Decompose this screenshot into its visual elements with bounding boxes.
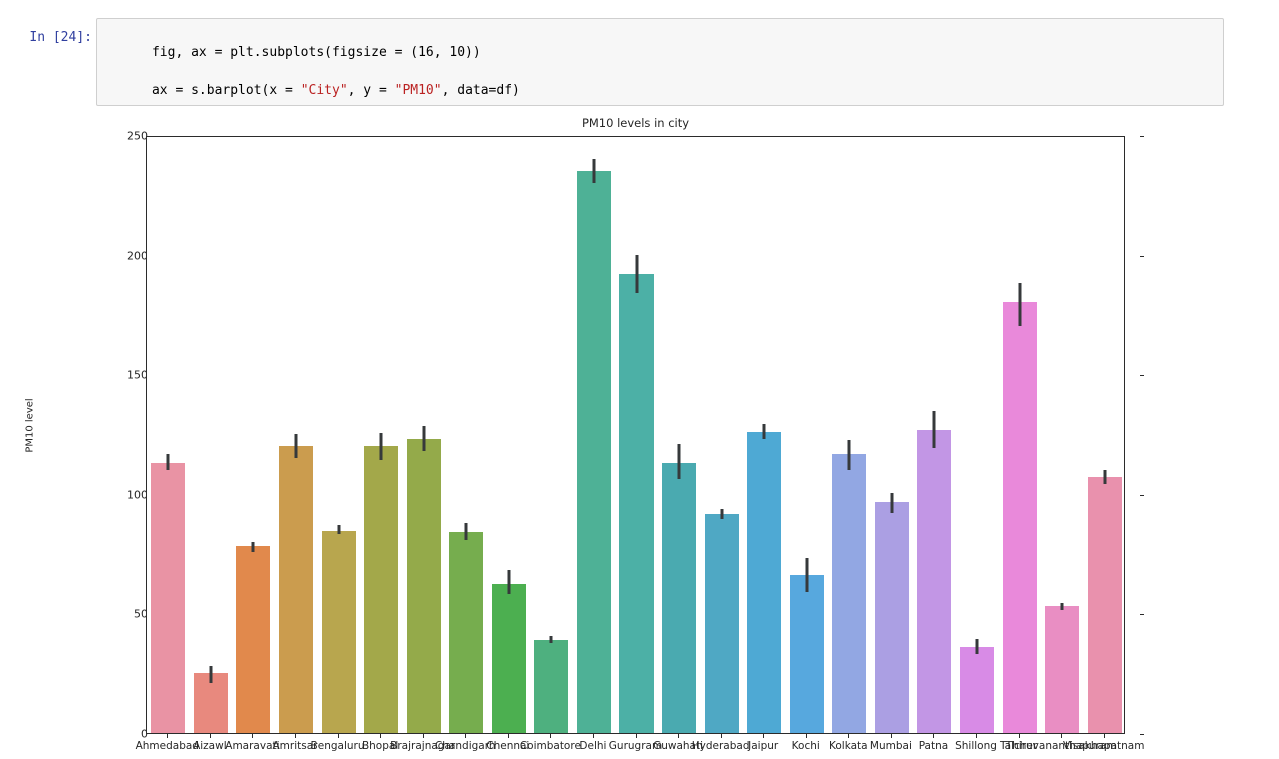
x-tick-mark-bengaluru xyxy=(338,734,339,738)
x-tick-mark-talcher xyxy=(1019,734,1020,738)
bar-delhi xyxy=(577,171,611,733)
error-bar-gurugram xyxy=(635,255,638,293)
y-tick-mark-150 xyxy=(1140,375,1144,376)
bar-bhopal xyxy=(364,446,398,733)
error-bar-ahmedabad xyxy=(167,454,170,470)
x-tick-mark-guwahati xyxy=(678,734,679,738)
error-bar-amaravati xyxy=(252,542,255,553)
bar-mumbai xyxy=(875,502,909,733)
bar-amritsar xyxy=(279,446,313,733)
y-tick-mark-0 xyxy=(1140,734,1144,735)
bar-kochi xyxy=(790,575,824,733)
code-line-2: ax = s.barplot(x = "City", y = "PM10", d… xyxy=(152,83,520,98)
x-tick-mark-coimbatore xyxy=(550,734,551,738)
x-tick-mark-gurugram xyxy=(636,734,637,738)
error-bar-bengaluru xyxy=(337,525,340,535)
x-tick-mark-delhi xyxy=(593,734,594,738)
chart-title: PM10 levels in city xyxy=(146,116,1125,130)
error-bar-patna xyxy=(933,411,936,448)
error-bar-coimbatore xyxy=(550,636,553,643)
bar-visakhapatnam xyxy=(1088,477,1122,733)
y-tick-mark-200 xyxy=(1140,256,1144,257)
bar-chandigarh xyxy=(449,532,483,733)
error-bar-mumbai xyxy=(890,493,893,513)
error-bar-hyderabad xyxy=(720,509,723,519)
error-bar-visakhapatnam xyxy=(1103,470,1106,484)
x-tick-mark-aizawl xyxy=(210,734,211,738)
bar-jaipur xyxy=(747,432,781,733)
error-bar-amritsar xyxy=(294,434,297,458)
error-bar-shillong xyxy=(976,639,979,655)
plot-area xyxy=(146,136,1125,734)
x-tick-mark-chennai xyxy=(508,734,509,738)
x-tick-mark-visakhapatnam xyxy=(1104,734,1105,738)
code-input-area[interactable]: fig, ax = plt.subplots(figsize = (16, 10… xyxy=(96,18,1224,106)
error-bar-bhopal xyxy=(380,433,383,461)
error-bar-guwahati xyxy=(678,444,681,480)
y-tick-label-100: 100 xyxy=(68,488,148,501)
y-tick-mark-250 xyxy=(1140,136,1144,137)
error-bar-aizawl xyxy=(209,666,212,683)
error-bar-kolkata xyxy=(848,440,851,470)
error-bar-chennai xyxy=(507,570,510,594)
bar-guwahati xyxy=(662,463,696,733)
y-tick-label-200: 200 xyxy=(68,249,148,262)
x-tick-mark-brajrajnagar xyxy=(423,734,424,738)
x-tick-mark-chandigarh xyxy=(465,734,466,738)
cell-prompt-label: In [24]: xyxy=(18,30,92,45)
bar-talcher xyxy=(1003,302,1037,733)
bar-chennai xyxy=(492,584,526,734)
error-bar-kochi xyxy=(805,558,808,591)
bar-patna xyxy=(917,430,951,733)
y-tick-label-50: 50 xyxy=(68,608,148,621)
x-tick-mark-bhopal xyxy=(380,734,381,738)
x-tick-mark-ahmedabad xyxy=(167,734,168,738)
chart-output-figure: PM10 levels in city PM10 level City 0501… xyxy=(0,110,1279,759)
bar-ahmedabad xyxy=(151,463,185,733)
y-tick-label-0: 0 xyxy=(68,728,148,741)
error-bar-jaipur xyxy=(763,424,766,438)
error-bar-delhi xyxy=(592,159,595,183)
bar-thiruvananthapuram xyxy=(1045,606,1079,733)
bar-brajrajnagar xyxy=(407,439,441,733)
x-tick-mark-mumbai xyxy=(891,734,892,738)
y-tick-label-250: 250 xyxy=(68,130,148,143)
error-bar-chandigarh xyxy=(465,523,468,541)
x-tick-mark-jaipur xyxy=(763,734,764,738)
x-tick-label-shillong: Shillong xyxy=(955,740,997,752)
error-bar-talcher xyxy=(1018,283,1021,326)
x-tick-label-mumbai: Mumbai xyxy=(870,740,912,752)
x-tick-mark-patna xyxy=(933,734,934,738)
bar-hyderabad xyxy=(705,514,739,733)
x-tick-mark-thiruvananthapuram xyxy=(1061,734,1062,738)
x-tick-label-kochi: Kochi xyxy=(792,740,820,752)
x-tick-label-aizawl: Aizawl xyxy=(193,740,227,752)
code-line-1: fig, ax = plt.subplots(figsize = (16, 10… xyxy=(152,45,481,60)
x-tick-label-delhi: Delhi xyxy=(579,740,606,752)
bar-coimbatore xyxy=(534,640,568,733)
error-bar-thiruvananthapuram xyxy=(1061,603,1064,610)
x-tick-mark-shillong xyxy=(976,734,977,738)
bar-shillong xyxy=(960,647,994,733)
error-bar-brajrajnagar xyxy=(422,426,425,451)
bar-gurugram xyxy=(619,274,653,733)
bar-bengaluru xyxy=(322,531,356,733)
notebook-code-cell: In [24]: fig, ax = plt.subplots(figsize … xyxy=(0,14,1279,110)
x-tick-label-jaipur: Jaipur xyxy=(748,740,778,752)
x-tick-label-patna: Patna xyxy=(919,740,949,752)
x-tick-label-visakhapatnam: Visakhapatnam xyxy=(1063,740,1144,752)
x-tick-mark-hyderabad xyxy=(721,734,722,738)
x-tick-label-kolkata: Kolkata xyxy=(829,740,868,752)
y-tick-mark-50 xyxy=(1140,614,1144,615)
x-tick-label-ahmedabad: Ahmedabad xyxy=(136,740,199,752)
y-tick-mark-100 xyxy=(1140,495,1144,496)
x-tick-mark-kolkata xyxy=(848,734,849,738)
bar-kolkata xyxy=(832,454,866,733)
bar-amaravati xyxy=(236,546,270,733)
x-tick-mark-kochi xyxy=(806,734,807,738)
x-tick-label-hyderabad: Hyderabad xyxy=(692,740,750,752)
x-tick-mark-amritsar xyxy=(295,734,296,738)
x-tick-label-amaravati: Amaravati xyxy=(225,740,279,752)
x-tick-label-bengaluru: Bengaluru xyxy=(311,740,365,752)
x-tick-mark-amaravati xyxy=(252,734,253,738)
y-tick-label-150: 150 xyxy=(68,369,148,382)
x-tick-label-coimbatore: Coimbatore xyxy=(520,740,581,752)
y-axis-label: PM10 level xyxy=(25,366,36,486)
